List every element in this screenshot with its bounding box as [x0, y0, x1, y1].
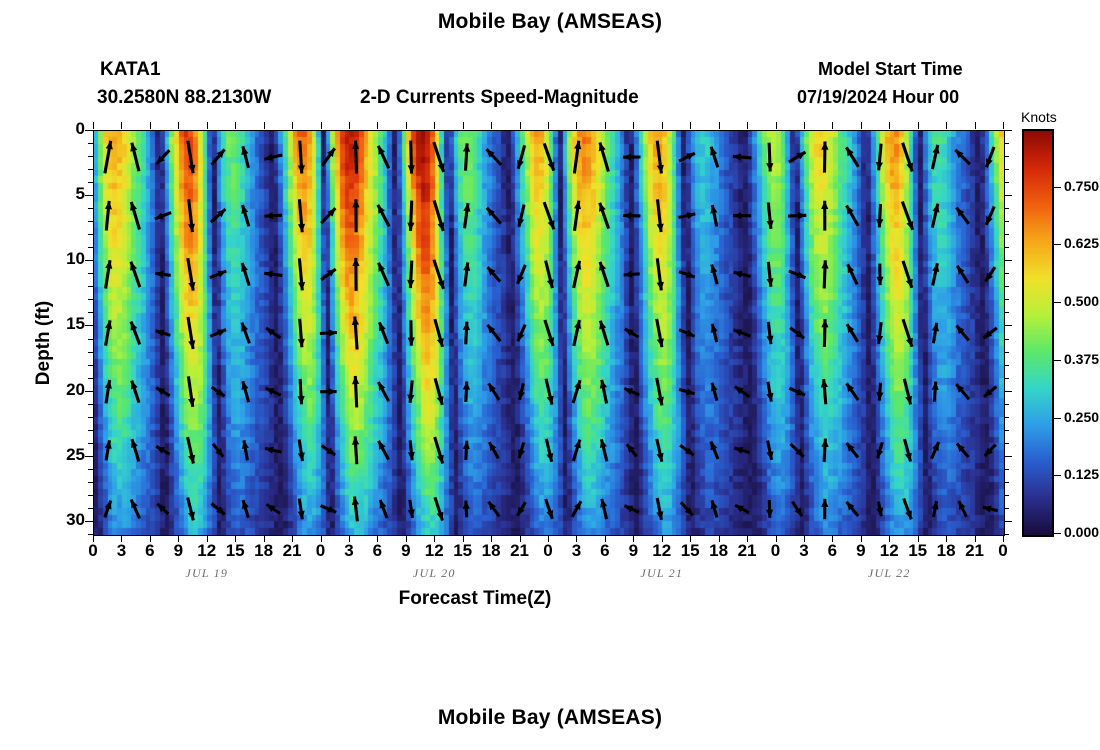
y-axis-tick-right: [1004, 521, 1012, 522]
y-axis-tick-minor: [88, 299, 93, 300]
y-axis-tick-minor: [88, 339, 93, 340]
y-axis-tick-right: [1004, 169, 1009, 170]
x-axis-title: Forecast Time(Z): [0, 588, 1025, 610]
y-axis-tick-right: [1004, 404, 1009, 405]
x-axis-label: 6: [590, 541, 620, 561]
y-axis-tick-right: [1004, 482, 1009, 483]
x-axis-tick-top: [832, 122, 833, 129]
y-axis-tick-right: [1004, 130, 1012, 131]
x-axis-label: 0: [988, 541, 1018, 561]
x-axis-tick-top: [633, 122, 634, 129]
x-axis-tick-top: [605, 122, 606, 129]
colorbar-tick-label: 0.375: [1064, 351, 1099, 367]
y-axis-tick-minor: [88, 312, 93, 313]
x-axis-tick-top: [662, 122, 663, 129]
colorbar-tick: [1052, 533, 1061, 534]
y-axis-label: 30: [51, 510, 85, 530]
y-axis-tick-major: [85, 260, 93, 261]
x-axis-label: 15: [903, 541, 933, 561]
x-axis-tick-top: [548, 122, 549, 129]
x-axis-label: 0: [306, 541, 336, 561]
y-axis-tick-right: [1004, 495, 1009, 496]
x-axis-label: 3: [106, 541, 136, 561]
y-axis-tick-major: [85, 325, 93, 326]
y-axis-tick-right: [1004, 443, 1009, 444]
x-axis-tick-top: [804, 122, 805, 129]
y-axis-tick-minor: [88, 378, 93, 379]
y-axis-tick-minor: [88, 286, 93, 287]
x-axis-tick-top: [491, 122, 492, 129]
x-axis-tick-top: [520, 122, 521, 129]
colorbar-tick-label: 0.000: [1064, 524, 1099, 540]
x-axis-tick-top: [719, 122, 720, 129]
y-axis-tick-right: [1004, 508, 1009, 509]
chart-subtitle: 2-D Currents Speed-Magnitude: [360, 87, 639, 109]
y-axis-tick-minor: [88, 404, 93, 405]
y-axis-label: 20: [51, 380, 85, 400]
colorbar-tick: [1052, 475, 1061, 476]
y-axis-tick-major: [85, 456, 93, 457]
y-axis-tick-minor: [88, 143, 93, 144]
x-axis-label: 0: [78, 541, 108, 561]
colorbar-tick: [1052, 302, 1061, 303]
x-axis-tick-top: [918, 122, 919, 129]
y-axis-tick-right: [1004, 182, 1009, 183]
y-axis-tick-right: [1004, 299, 1009, 300]
y-axis-label: 5: [51, 184, 85, 204]
y-axis-tick-minor: [88, 508, 93, 509]
y-axis-tick-right: [1004, 286, 1009, 287]
x-axis-tick-top: [235, 122, 236, 129]
x-axis-tick-top: [150, 122, 151, 129]
y-axis-tick-right: [1004, 417, 1009, 418]
y-axis-tick-right: [1004, 352, 1009, 353]
x-axis-label: 15: [675, 541, 705, 561]
x-axis-label: 9: [391, 541, 421, 561]
y-axis-tick-minor: [88, 417, 93, 418]
y-axis-tick-minor: [88, 365, 93, 366]
y-axis-tick-right: [1004, 534, 1009, 535]
model-start-time-value: 07/19/2024 Hour 00: [797, 87, 959, 108]
x-axis-label: 0: [533, 541, 563, 561]
y-axis-tick-right: [1004, 260, 1012, 261]
y-axis-tick-major: [85, 521, 93, 522]
x-axis-label: 18: [704, 541, 734, 561]
y-axis-tick-major: [85, 130, 93, 131]
colorbar-tick: [1052, 418, 1061, 419]
colorbar-gradient: [1024, 131, 1052, 535]
y-axis-tick-minor: [88, 234, 93, 235]
y-axis-tick-right: [1004, 339, 1009, 340]
x-axis-tick-top: [377, 122, 378, 129]
x-axis-label: 21: [505, 541, 535, 561]
colorbar[interactable]: [1022, 129, 1054, 537]
x-axis-tick-top: [406, 122, 407, 129]
x-axis-label: 21: [277, 541, 307, 561]
colorbar-tick: [1052, 244, 1061, 245]
x-axis-label: 18: [931, 541, 961, 561]
x-axis-tick-top: [292, 122, 293, 129]
x-axis-tick-top: [889, 122, 890, 129]
y-axis-tick-minor: [88, 495, 93, 496]
y-axis-tick-minor: [88, 469, 93, 470]
y-axis-tick-minor: [88, 169, 93, 170]
y-axis-tick-right: [1004, 221, 1009, 222]
x-axis-label: 15: [220, 541, 250, 561]
y-axis-tick-minor: [88, 482, 93, 483]
x-axis-tick-top: [776, 122, 777, 129]
x-axis-label: 18: [476, 541, 506, 561]
colorbar-tick-label: 0.250: [1064, 409, 1099, 425]
y-axis-tick-major: [85, 195, 93, 196]
y-axis-tick-right: [1004, 430, 1009, 431]
y-axis-tick-right: [1004, 312, 1009, 313]
x-axis-label: 3: [334, 541, 364, 561]
x-axis-tick-top: [861, 122, 862, 129]
x-axis-tick-top: [93, 122, 94, 129]
x-axis-label: 15: [448, 541, 478, 561]
y-axis-tick-minor: [88, 430, 93, 431]
y-axis-tick-right: [1004, 234, 1009, 235]
x-axis-label: 12: [874, 541, 904, 561]
x-axis-tick-top: [946, 122, 947, 129]
x-axis-label: 6: [817, 541, 847, 561]
x-axis-label: 21: [732, 541, 762, 561]
y-axis-tick-right: [1004, 156, 1009, 157]
y-axis-tick-right: [1004, 378, 1009, 379]
y-axis-tick-right: [1004, 208, 1009, 209]
x-axis-tick-top: [264, 122, 265, 129]
colorbar-tick-label: 0.125: [1064, 466, 1099, 482]
y-axis-tick-right: [1004, 247, 1009, 248]
x-axis-tick-top: [178, 122, 179, 129]
x-axis-label: 21: [960, 541, 990, 561]
y-axis-label: 10: [51, 249, 85, 269]
x-axis-date-label: JUL 19: [162, 566, 252, 581]
colorbar-tick: [1052, 360, 1061, 361]
y-axis-label: 15: [51, 314, 85, 334]
colorbar-unit-label: Knots: [1021, 109, 1057, 125]
x-axis-label: 6: [362, 541, 392, 561]
x-axis-tick-top: [576, 122, 577, 129]
station-coordinates: 30.2580N 88.2130W: [97, 87, 271, 109]
x-axis-date-label: JUL 21: [617, 566, 707, 581]
page-title-top: Mobile Bay (AMSEAS): [0, 10, 1100, 34]
y-axis-tick-right: [1004, 365, 1009, 366]
x-axis-tick-top: [349, 122, 350, 129]
x-axis-date-label: JUL 22: [844, 566, 934, 581]
x-axis-tick-top: [463, 122, 464, 129]
x-axis-label: 12: [419, 541, 449, 561]
y-axis-tick-minor: [88, 156, 93, 157]
x-axis-tick-top: [321, 122, 322, 129]
y-axis-tick-minor: [88, 182, 93, 183]
y-axis-tick-right: [1004, 273, 1009, 274]
y-axis-tick-minor: [88, 443, 93, 444]
model-start-time-label: Model Start Time: [818, 59, 963, 80]
x-axis-label: 18: [249, 541, 279, 561]
x-axis-tick-top: [975, 122, 976, 129]
y-axis-tick-right: [1004, 456, 1012, 457]
x-axis-tick-top: [747, 122, 748, 129]
y-axis-tick-minor: [88, 273, 93, 274]
y-axis-tick-minor: [88, 352, 93, 353]
y-axis-tick-right: [1004, 469, 1009, 470]
x-axis-label: 3: [561, 541, 591, 561]
x-axis-tick-top: [1003, 122, 1004, 129]
colorbar-tick-label: 0.750: [1064, 178, 1099, 194]
heatmap-plot-area: [93, 130, 1005, 536]
y-axis-tick-right: [1004, 195, 1012, 196]
speed-magnitude-heatmap: [94, 131, 1004, 535]
x-axis-label: 9: [163, 541, 193, 561]
x-axis-tick-top: [434, 122, 435, 129]
y-axis-tick-right: [1004, 391, 1012, 392]
x-axis-label: 12: [192, 541, 222, 561]
colorbar-tick-label: 0.625: [1064, 235, 1099, 251]
x-axis-label: 0: [761, 541, 791, 561]
y-axis-tick-minor: [88, 221, 93, 222]
x-axis-label: 9: [618, 541, 648, 561]
x-axis-label: 3: [789, 541, 819, 561]
y-axis-tick-minor: [88, 534, 93, 535]
y-axis-title: Depth (ft): [33, 283, 55, 403]
x-axis-label: 12: [647, 541, 677, 561]
y-axis-tick-major: [85, 391, 93, 392]
y-axis-label: 25: [51, 445, 85, 465]
page-title-bottom: Mobile Bay (AMSEAS): [0, 706, 1100, 730]
x-axis-label: 9: [846, 541, 876, 561]
colorbar-tick: [1052, 187, 1061, 188]
y-axis-tick-right: [1004, 325, 1012, 326]
x-axis-tick-top: [121, 122, 122, 129]
x-axis-tick-top: [207, 122, 208, 129]
station-id: KATA1: [100, 59, 161, 81]
x-axis-tick-top: [690, 122, 691, 129]
y-axis-tick-minor: [88, 247, 93, 248]
y-axis-label: 0: [51, 119, 85, 139]
y-axis-tick-minor: [88, 208, 93, 209]
colorbar-tick-label: 0.500: [1064, 293, 1099, 309]
x-axis-date-label: JUL 20: [389, 566, 479, 581]
y-axis-tick-right: [1004, 143, 1009, 144]
x-axis-label: 6: [135, 541, 165, 561]
